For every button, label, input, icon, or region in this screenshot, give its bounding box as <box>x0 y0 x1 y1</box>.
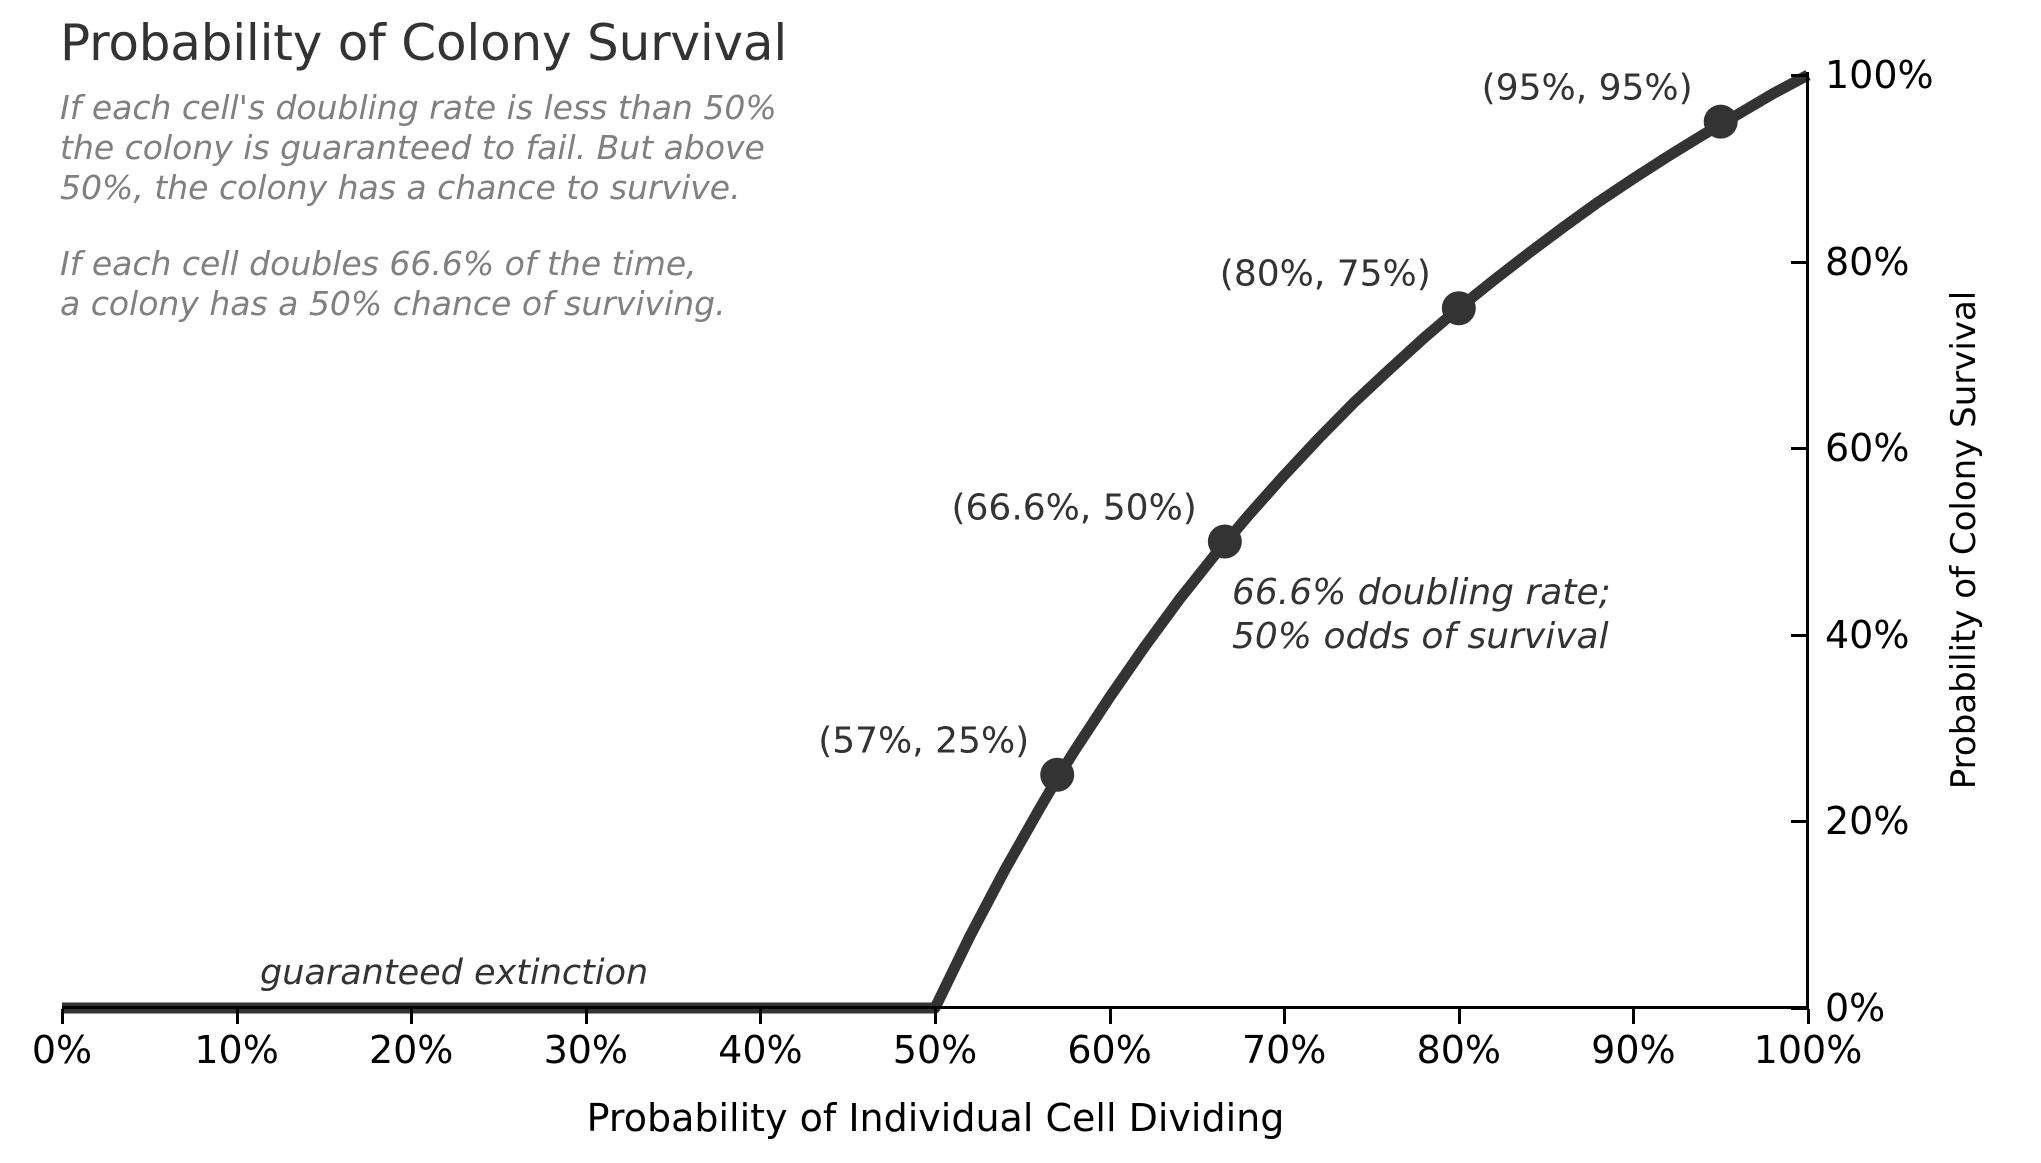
data-point-label: (57%, 25%) <box>818 720 1029 761</box>
data-point-marker[interactable] <box>1208 525 1242 559</box>
x-tick-mark <box>61 1009 64 1024</box>
data-point-marker[interactable] <box>1704 105 1738 139</box>
annotation-guaranteed-extinction: guaranteed extinction <box>260 951 648 995</box>
x-tick-label: 10% <box>194 1028 278 1072</box>
x-tick-label: 100% <box>1754 1028 1863 1072</box>
x-tick-label: 30% <box>544 1028 628 1072</box>
y-tick-mark <box>1791 820 1807 823</box>
x-tick-label: 20% <box>369 1028 453 1072</box>
x-tick-mark <box>1283 1009 1286 1024</box>
x-tick-label: 80% <box>1417 1028 1501 1072</box>
data-point-label: (95%, 95%) <box>1482 67 1693 108</box>
y-tick-label: 60% <box>1825 426 1909 470</box>
y-axis-title: Probability of Colony Survival <box>1944 291 1984 789</box>
x-axis-title: Probability of Individual Cell Dividing <box>62 1096 1809 1140</box>
y-tick-mark <box>1791 634 1807 637</box>
x-tick-label: 0% <box>32 1028 92 1072</box>
data-point-label: (66.6%, 50%) <box>951 487 1196 528</box>
y-axis-spine <box>1806 72 1809 1009</box>
data-point-label: (80%, 75%) <box>1220 254 1431 295</box>
x-tick-mark <box>934 1009 937 1024</box>
y-tick-label: 20% <box>1825 799 1909 843</box>
x-tick-label: 40% <box>718 1028 802 1072</box>
survival-curve-line <box>62 75 1808 1008</box>
x-tick-mark <box>236 1009 239 1024</box>
x-tick-mark <box>759 1009 762 1024</box>
plot-area <box>62 75 1808 1008</box>
survival-curve-svg <box>62 75 1808 1008</box>
y-tick-mark <box>1791 447 1807 450</box>
y-tick-label: 40% <box>1825 613 1909 657</box>
x-tick-label: 50% <box>893 1028 977 1072</box>
annotation-survival-odds: 66.6% doubling rate; 50% odds of surviva… <box>1232 571 1611 659</box>
x-tick-label: 70% <box>1242 1028 1326 1072</box>
x-tick-mark <box>1807 1009 1810 1024</box>
x-tick-label: 90% <box>1591 1028 1675 1072</box>
x-tick-mark <box>1632 1009 1635 1024</box>
data-point-marker[interactable] <box>1442 291 1476 325</box>
y-tick-mark <box>1791 261 1807 264</box>
y-tick-label: 100% <box>1825 53 1934 97</box>
chart-canvas: Probability of Colony Survival If each c… <box>0 0 2041 1163</box>
data-point-marker[interactable] <box>1040 758 1074 792</box>
x-tick-mark <box>1109 1009 1112 1024</box>
y-tick-mark <box>1791 1007 1807 1010</box>
y-tick-mark <box>1791 74 1807 77</box>
x-tick-label: 60% <box>1067 1028 1151 1072</box>
x-tick-mark <box>410 1009 413 1024</box>
y-tick-label: 80% <box>1825 240 1909 284</box>
x-tick-mark <box>585 1009 588 1024</box>
y-tick-label: 0% <box>1825 986 1885 1030</box>
x-tick-mark <box>1458 1009 1461 1024</box>
page-title: Probability of Colony Survival <box>60 14 787 72</box>
